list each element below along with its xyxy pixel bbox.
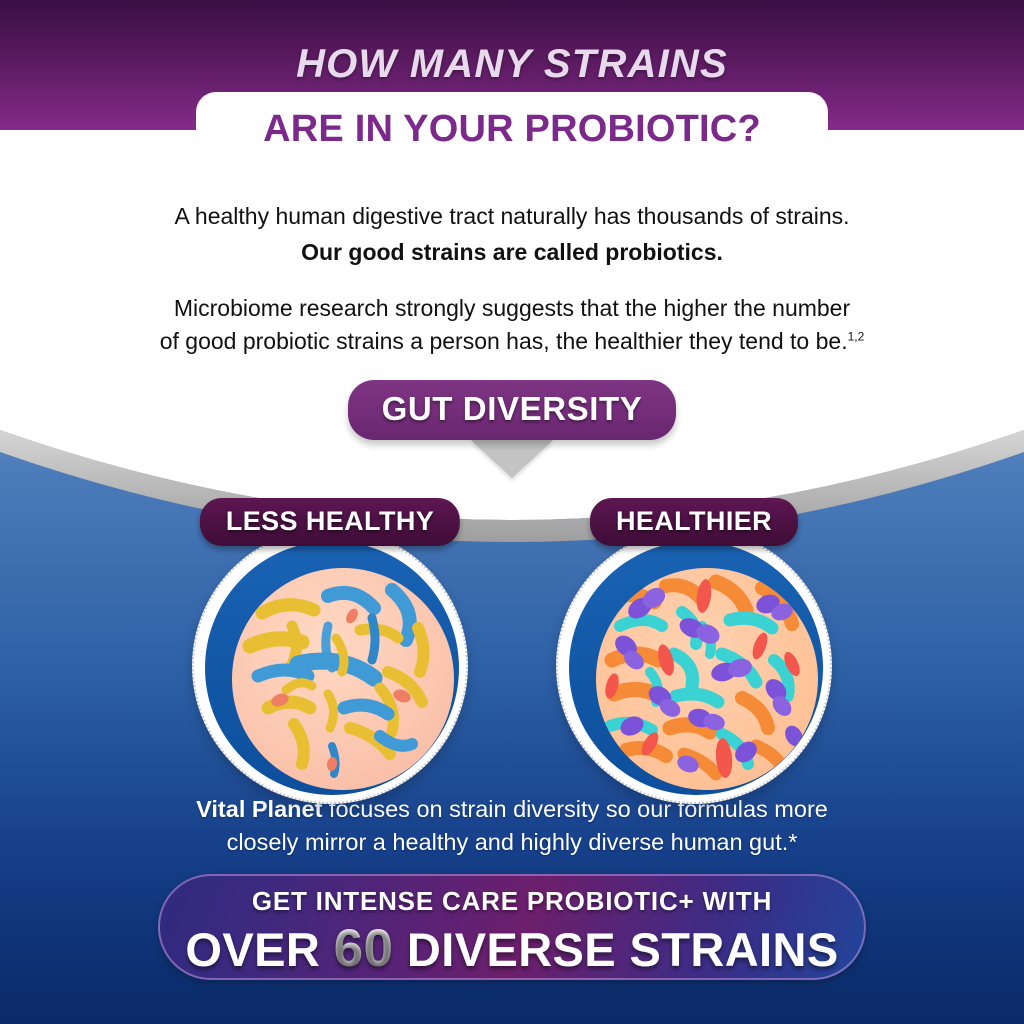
footer-copy-line-2: closely mirror a healthy and highly dive… bbox=[227, 829, 798, 855]
circle-less-healthy: LESS HEALTHY bbox=[192, 528, 468, 738]
cta-banner[interactable]: GET INTENSE CARE PROBIOTIC+ WITH OVER 60… bbox=[158, 874, 866, 980]
research-line-2: of good probiotic strains a person has, … bbox=[160, 328, 848, 354]
petri-outer-ring bbox=[192, 528, 468, 804]
petri-outer-ring bbox=[556, 528, 832, 804]
cta-strain-count: 60 bbox=[334, 919, 394, 978]
intro-line-2-bold: Our good strains are called probiotics. bbox=[0, 236, 1024, 269]
page-title: HOW MANY STRAINS bbox=[0, 42, 1024, 87]
footer-copy: Vital Planet focuses on strain diversity… bbox=[0, 793, 1024, 860]
cta-subheadline: OVER 60 DIVERSE STRAINS bbox=[160, 918, 864, 979]
circle-healthier: HEALTHIER bbox=[556, 528, 832, 738]
badge-pointer-icon bbox=[471, 440, 553, 478]
petri-blue-ring bbox=[569, 541, 823, 795]
infographic-canvas: HOW MANY STRAINS ARE IN YOUR PROBIOTIC? … bbox=[0, 0, 1024, 1024]
petri-dish-healthier bbox=[596, 568, 818, 790]
footnote-marker: 1,2 bbox=[848, 329, 865, 343]
page-subtitle: ARE IN YOUR PROBIOTIC? bbox=[0, 108, 1024, 151]
gut-diversity-badge: GUT DIVERSITY bbox=[348, 380, 677, 440]
research-line-1: Microbiome research strongly suggests th… bbox=[174, 295, 850, 321]
label-healthier: HEALTHIER bbox=[590, 498, 798, 546]
petri-dish-less-healthy bbox=[232, 568, 454, 790]
petri-blue-ring bbox=[205, 541, 459, 795]
cta-headline: GET INTENSE CARE PROBIOTIC+ WITH bbox=[160, 886, 864, 917]
gut-diversity-badge-row: GUT DIVERSITY bbox=[0, 380, 1024, 440]
label-less-healthy: LESS HEALTHY bbox=[200, 498, 460, 546]
cta-prefix: OVER bbox=[185, 923, 320, 976]
research-paragraph: Microbiome research strongly suggests th… bbox=[0, 292, 1024, 357]
intro-line-1: A healthy human digestive tract naturall… bbox=[174, 203, 849, 229]
content-layer: HOW MANY STRAINS ARE IN YOUR PROBIOTIC? … bbox=[0, 0, 1024, 1024]
footer-copy-line-1: focuses on strain diversity so our formu… bbox=[322, 796, 827, 822]
intro-paragraph: A healthy human digestive tract naturall… bbox=[0, 200, 1024, 268]
cta-suffix: DIVERSE STRAINS bbox=[407, 923, 839, 976]
